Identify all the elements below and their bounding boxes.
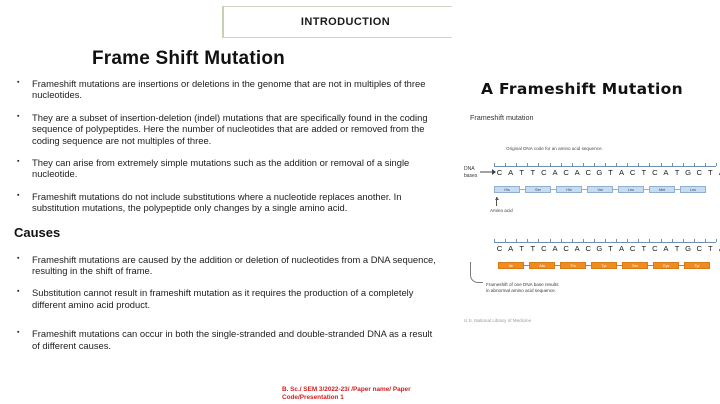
axis-tick	[561, 163, 562, 166]
axis-tick	[694, 163, 695, 166]
amino-acid-box: Met	[649, 186, 675, 193]
amino-acid-note: Amino acid	[490, 208, 513, 213]
nucleotide-base: C	[627, 168, 638, 177]
nucleotide-base: A	[572, 168, 583, 177]
dna-label-line-1: DNA	[464, 166, 477, 173]
list-item: Frameshift mutations are caused by the a…	[10, 254, 440, 277]
nucleotide-base: C	[583, 168, 594, 177]
axis-tick	[550, 239, 551, 242]
nucleotide-base: A	[549, 168, 560, 177]
axis-tick	[694, 239, 695, 242]
axis-tick	[494, 163, 495, 166]
dna-sequence-original: CATTCACACGTACTCATGCTAT	[494, 168, 720, 177]
amino-acid-box: Thr	[560, 262, 586, 269]
amino-acid-box: Ile	[498, 262, 524, 269]
axis-tick	[594, 163, 595, 166]
axis-tick	[705, 239, 706, 242]
axis-tick	[527, 239, 528, 242]
axis-tick	[683, 239, 684, 242]
left-content-column: Frame Shift Mutation Frameshift mutation…	[0, 42, 452, 404]
axis-tick	[516, 163, 517, 166]
nucleotide-base: A	[716, 244, 720, 253]
nucleotide-base: C	[694, 168, 705, 177]
list-item: They are a subset of insertion-deletion …	[10, 112, 440, 146]
axis-tick	[638, 239, 639, 242]
nucleotide-base: C	[561, 244, 572, 253]
amino-acid-box: Tyr	[591, 262, 617, 269]
axis-tick	[661, 163, 662, 166]
axis-tick	[627, 163, 628, 166]
nucleotide-base: A	[505, 244, 516, 253]
axis-tick	[505, 239, 506, 242]
nucleotide-base: T	[516, 244, 527, 253]
nucleotide-base: T	[638, 244, 649, 253]
nucleotide-base: A	[616, 168, 627, 177]
axis-tick	[561, 239, 562, 242]
nucleotide-base: T	[605, 244, 616, 253]
nucleotide-base: C	[494, 168, 505, 177]
axis-tick	[505, 163, 506, 166]
axis-tick	[605, 163, 606, 166]
nucleotide-base: T	[516, 168, 527, 177]
axis-tick	[616, 239, 617, 242]
nucleotide-base: T	[527, 168, 538, 177]
nucleotide-base: C	[538, 244, 549, 253]
amino-acid-box: Ser	[622, 262, 648, 269]
nucleotide-base: A	[572, 244, 583, 253]
axis-tick	[594, 239, 595, 242]
nucleotide-base: C	[649, 244, 660, 253]
nucleotide-base: G	[683, 168, 694, 177]
nucleotide-base: A	[549, 244, 560, 253]
frameshift-note: Frameshift of one DNA base results in ab…	[486, 282, 636, 294]
axis-tick	[638, 163, 639, 166]
axis-tick	[516, 239, 517, 242]
nucleotide-base: C	[627, 244, 638, 253]
frameshift-hook-icon	[470, 262, 483, 283]
nucleotide-base: G	[594, 244, 605, 253]
nucleotide-base: C	[561, 168, 572, 177]
list-item: Substitution cannot result in frameshift…	[10, 287, 440, 310]
dna-bases-label: DNA bases	[464, 166, 477, 180]
nucleotide-base: A	[716, 168, 720, 177]
axis-tick	[627, 239, 628, 242]
amino-acid-box: Val	[587, 186, 613, 193]
axis-tick	[672, 239, 673, 242]
nucleotide-base: C	[583, 244, 594, 253]
introduction-label: INTRODUCTION	[224, 16, 467, 28]
nucleotide-base: C	[538, 168, 549, 177]
nucleotide-base: T	[672, 244, 683, 253]
nucleotide-base: A	[505, 168, 516, 177]
sequence-axis-bottom	[494, 242, 716, 243]
amino-acid-box: Tyr	[684, 262, 710, 269]
page-title: Frame Shift Mutation	[92, 48, 285, 70]
axis-tick	[550, 163, 551, 166]
axis-tick	[494, 239, 495, 242]
axis-tick	[705, 163, 706, 166]
amino-acid-box: His	[556, 186, 582, 193]
amino-acid-pointer-icon	[496, 197, 497, 206]
list-item: Frameshift mutations do not include subs…	[10, 191, 440, 214]
nucleotide-base: C	[694, 244, 705, 253]
slide-canvas: INTRODUCTION Frame Shift Mutation Frames…	[0, 0, 720, 404]
dna-sequence-shifted: CATTCACACGTACTCATGCTAT	[494, 244, 720, 253]
right-figure-column: A Frameshift Mutation Frameshift mutatio…	[452, 0, 720, 404]
frameshift-note-line-2: in abnormal amino acid sequence.	[486, 288, 636, 294]
dna-label-line-2: bases	[464, 173, 477, 180]
axis-tick	[583, 163, 584, 166]
sequence-axis-top	[494, 166, 716, 167]
amino-acid-row-normal: HisSerHisValLeuMetLeu	[494, 186, 706, 193]
amino-acid-box: Ser	[525, 186, 551, 193]
axis-tick	[616, 163, 617, 166]
axis-tick	[716, 239, 717, 242]
axis-tick	[716, 163, 717, 166]
list-item: Frameshift mutations are insertions or d…	[10, 78, 440, 101]
amino-acid-row-abnormal: IleAlaThrTyrSerCysTyr	[498, 262, 710, 269]
axis-tick	[649, 163, 650, 166]
nucleotide-base: C	[649, 168, 660, 177]
introduction-box: INTRODUCTION	[222, 6, 468, 38]
nucleotide-base: T	[705, 168, 716, 177]
amino-acid-box: Cys	[653, 262, 679, 269]
nucleotide-base: A	[660, 244, 671, 253]
nucleotide-base: T	[605, 168, 616, 177]
nucleotide-base: C	[494, 244, 505, 253]
axis-tick	[538, 239, 539, 242]
list-item: Frameshift mutations can occur in both t…	[10, 328, 440, 351]
axis-tick	[538, 163, 539, 166]
list-item: They can arise from extremely simple mut…	[10, 157, 440, 180]
section-heading-causes: Causes	[10, 225, 440, 240]
axis-tick	[583, 239, 584, 242]
amino-acid-box: His	[494, 186, 520, 193]
axis-tick	[527, 163, 528, 166]
frameshift-diagram: Original DNA code for an amino acid sequ…	[464, 142, 716, 328]
nucleotide-base: T	[638, 168, 649, 177]
nucleotide-base: T	[705, 244, 716, 253]
figure-credit: U.S. National Library of Medicine	[464, 318, 531, 323]
figure-title: A Frameshift Mutation	[452, 80, 712, 98]
nucleotide-base: G	[594, 168, 605, 177]
nucleotide-base: G	[683, 244, 694, 253]
nucleotide-base: T	[527, 244, 538, 253]
figure-subtitle: Frameshift mutation	[470, 113, 534, 122]
amino-acid-box: Leu	[618, 186, 644, 193]
nucleotide-base: A	[616, 244, 627, 253]
axis-tick	[572, 163, 573, 166]
nucleotide-base: A	[660, 168, 671, 177]
bullet-list: Frameshift mutations are insertions or d…	[10, 78, 440, 362]
axis-tick	[672, 163, 673, 166]
amino-acid-box: Leu	[680, 186, 706, 193]
nucleotide-base: T	[672, 168, 683, 177]
diagram-caption-top: Original DNA code for an amino acid sequ…	[506, 146, 603, 151]
axis-tick	[661, 239, 662, 242]
axis-tick	[683, 163, 684, 166]
axis-tick	[649, 239, 650, 242]
amino-acid-box: Ala	[529, 262, 555, 269]
axis-tick	[605, 239, 606, 242]
axis-tick	[572, 239, 573, 242]
